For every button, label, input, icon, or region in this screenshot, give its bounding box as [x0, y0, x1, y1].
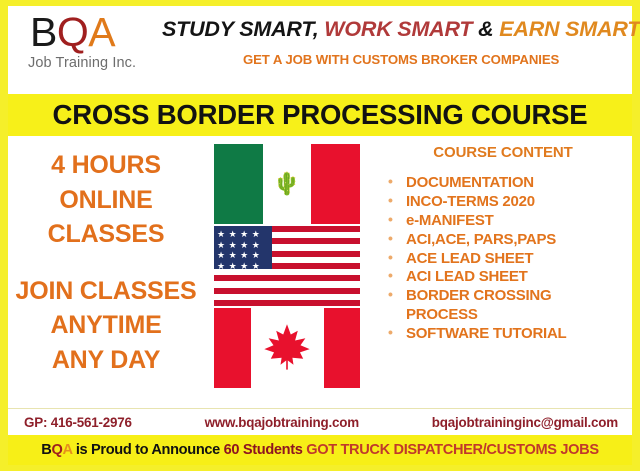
maple-leaf-icon: [260, 320, 314, 374]
mexico-coat-of-arms-icon: 🌵: [270, 170, 304, 198]
mexico-flag-red-band: [311, 144, 360, 224]
course-item-documentation: DOCUMENTATION: [384, 174, 628, 193]
contact-email[interactable]: bqajobtraininginc@gmail.com: [432, 415, 618, 430]
tagline-part-study: STUDY SMART,: [162, 17, 318, 41]
announcement-tail: GOT TRUCK DISPATCHER/CUSTOMS JOBS: [303, 442, 599, 458]
course-item-ace-lead-sheet: ACE LEAD SHEET: [384, 250, 628, 269]
flags-column: 🌵 ★★★★★: [204, 140, 370, 408]
tagline: STUDY SMART, WORK SMART & EARN SMART: [162, 18, 640, 41]
logo-wordmark: BQA: [14, 12, 162, 53]
course-content-column: COURSE CONTENT DOCUMENTATION INCO-TERMS …: [370, 140, 632, 408]
mexico-flag-white-band: 🌵: [263, 144, 312, 224]
promo-column: 4 HOURS ONLINE CLASSES JOIN CLASSES ANYT…: [8, 140, 204, 408]
announcement-banner: BQA is Proud to Announce 60 Students GOT…: [8, 435, 632, 465]
announcement-logo-a: A: [62, 442, 72, 458]
course-item-aci-ace-pars-paps: ACI,ACE, PARS,PAPS: [384, 231, 628, 250]
usa-stripe: [214, 288, 360, 294]
canada-flag-left-band: [214, 308, 251, 388]
course-item-software-tutorial: SOFTWARE TUTORIAL: [384, 325, 628, 344]
tagline-part-work: WORK SMART: [324, 17, 472, 41]
usa-flag-canton: ★★★★★★★★★★★★★★★★: [214, 226, 272, 269]
promo-line-anytime: ANYTIME: [50, 308, 161, 343]
poster-header: BQA Job Training Inc. STUDY SMART, WORK …: [8, 6, 632, 94]
announcement-logo-b: B: [41, 442, 51, 458]
poster-sheet: BQA Job Training Inc. STUDY SMART, WORK …: [8, 6, 632, 465]
usa-flag: ★★★★★★★★★★★★★★★★: [214, 226, 360, 306]
tagline-part-earn: EARN SMART: [499, 17, 640, 41]
course-item-border-crossing-cont: PROCESS: [384, 306, 628, 325]
poster-body: 4 HOURS ONLINE CLASSES JOIN CLASSES ANYT…: [8, 136, 632, 408]
course-item-border-crossing: BORDER CROSSING: [384, 287, 628, 306]
course-content-heading: COURSE CONTENT: [378, 144, 628, 161]
canada-flag-white-band: [251, 308, 324, 388]
logo-subtitle: Job Training Inc.: [14, 55, 162, 71]
promo-line-hours: 4 HOURS: [51, 148, 161, 183]
tagline-ampersand: &: [478, 17, 493, 41]
announcement-count: 60 Students: [224, 442, 303, 458]
brand-logo: BQA Job Training Inc.: [14, 6, 162, 71]
announcement-text: BQA is Proud to Announce 60 Students GOT…: [41, 442, 598, 458]
course-content-list: DOCUMENTATION INCO-TERMS 2020 e-MANIFEST…: [378, 174, 628, 344]
announcement-logo-q: Q: [51, 442, 62, 458]
promo-line-classes: CLASSES: [48, 217, 165, 252]
logo-letter-b: B: [30, 9, 57, 55]
course-item-incoterms: INCO-TERMS 2020: [384, 193, 628, 212]
contact-website[interactable]: www.bqajobtraining.com: [205, 415, 359, 430]
sub-tagline: GET A JOB WITH CUSTOMS BROKER COMPANIES: [162, 52, 640, 67]
header-text-block: STUDY SMART, WORK SMART & EARN SMART GET…: [162, 6, 640, 67]
course-item-emanifest: e-MANIFEST: [384, 212, 628, 231]
promo-line-anyday: ANY DAY: [52, 343, 160, 378]
usa-flag-stars-icon: ★★★★★★★★★★★★★★★★: [214, 226, 272, 269]
usa-stripe: [214, 275, 360, 281]
course-item-aci-lead-sheet: ACI LEAD SHEET: [384, 268, 628, 287]
course-title-banner: CROSS BORDER PROCESSING COURSE: [8, 94, 632, 136]
canada-flag-right-band: [324, 308, 361, 388]
announcement-mid: is Proud to Announce: [72, 442, 223, 458]
contact-phone[interactable]: GP: 416-561-2976: [24, 415, 132, 430]
mexico-flag: 🌵: [214, 144, 360, 224]
advertisement-poster: BQA Job Training Inc. STUDY SMART, WORK …: [0, 0, 640, 471]
logo-letter-q: Q: [57, 9, 88, 55]
promo-line-online: ONLINE: [59, 183, 152, 218]
usa-stripe: [214, 300, 360, 306]
mexico-flag-green-band: [214, 144, 263, 224]
logo-letter-a: A: [88, 9, 115, 55]
promo-line-join: JOIN CLASSES: [16, 274, 197, 309]
contact-bar: GP: 416-561-2976 www.bqajobtraining.com …: [8, 408, 632, 435]
canada-flag: [214, 308, 360, 388]
page-title: CROSS BORDER PROCESSING COURSE: [53, 99, 588, 131]
